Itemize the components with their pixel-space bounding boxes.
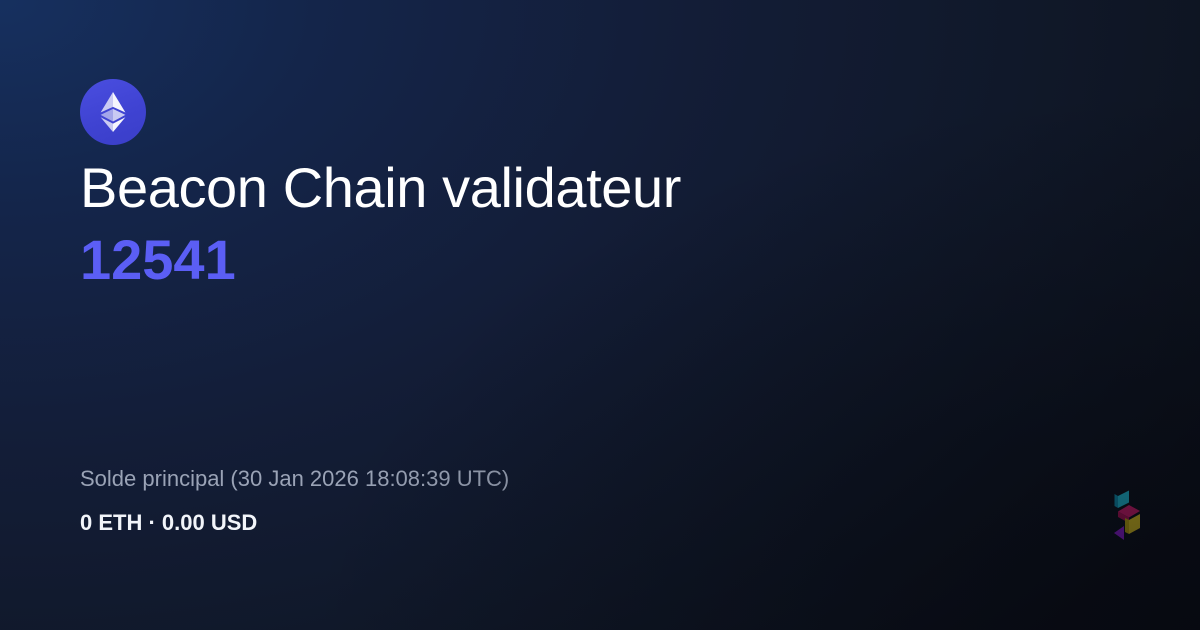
card-content: Beacon Chain validateur 12541 Solde prin… <box>80 0 1120 630</box>
ethereum-avatar <box>80 79 146 145</box>
balance-label: Solde principal (30 Jan 2026 18:08:39 UT… <box>80 462 1120 496</box>
open-graph-card: Beacon Chain validateur 12541 Solde prin… <box>0 0 1200 630</box>
ethereum-diamond-icon <box>100 92 126 132</box>
page-title-block: Beacon Chain validateur 12541 <box>80 152 1120 296</box>
balance-block: Solde principal (30 Jan 2026 18:08:39 UT… <box>80 462 1120 540</box>
page-title: Beacon Chain validateur <box>80 152 1120 224</box>
validator-index: 12541 <box>80 224 1120 296</box>
beaconcha-in-isometric-logo-icon <box>1112 490 1146 546</box>
brand-logo <box>1112 490 1146 546</box>
balance-value: 0 ETH · 0.00 USD <box>80 506 1120 540</box>
